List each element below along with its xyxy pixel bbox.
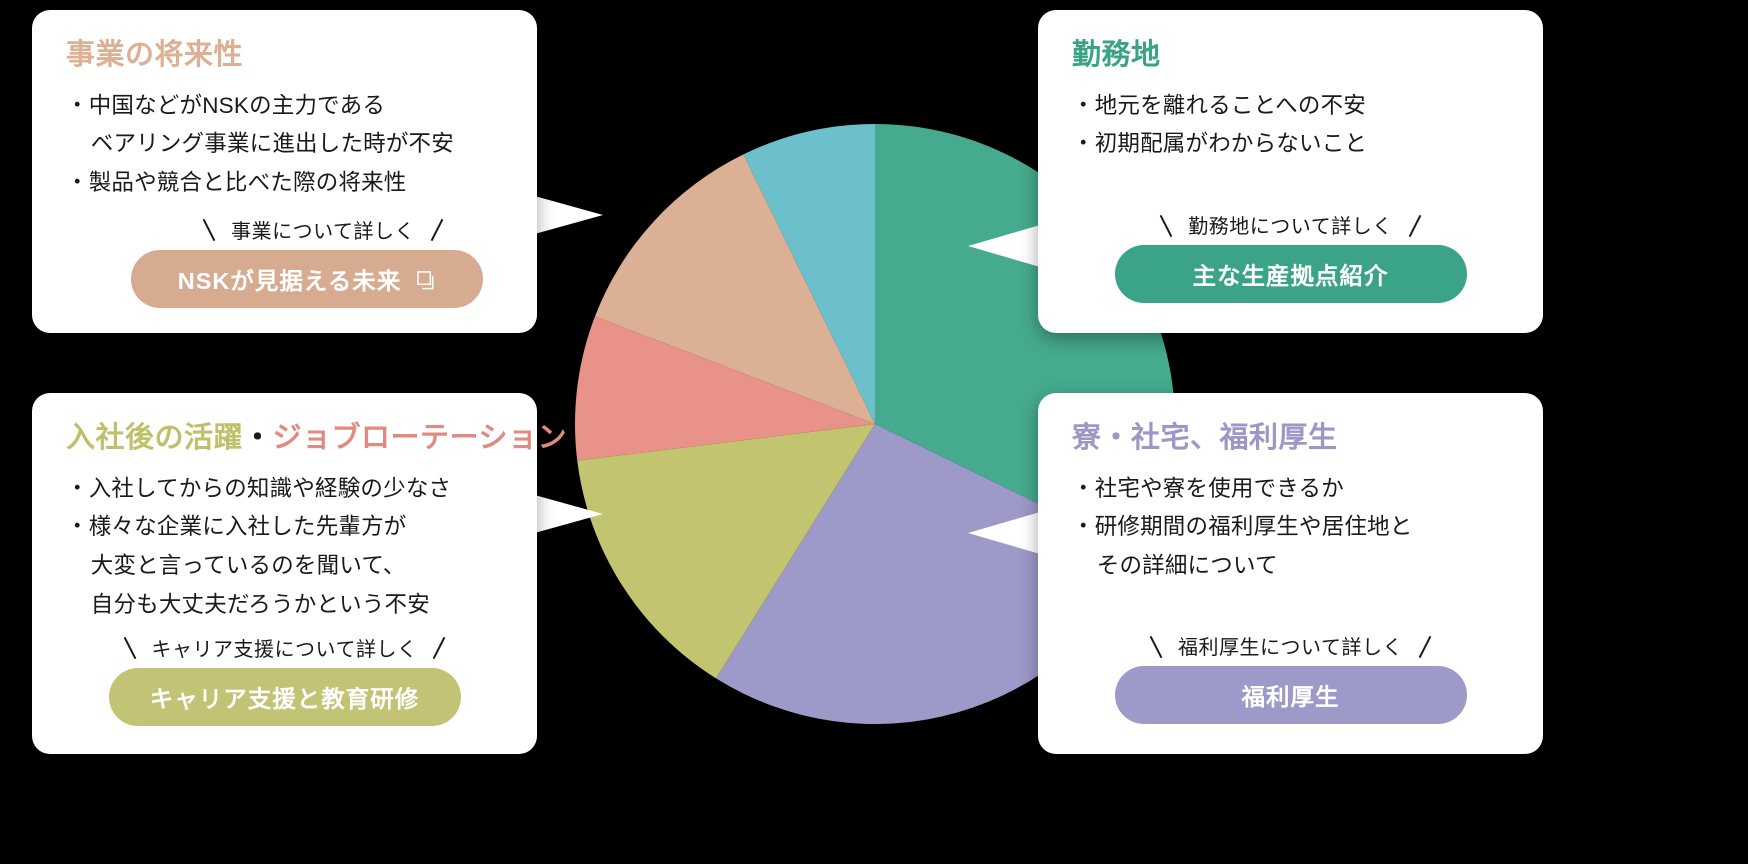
slash-right-icon xyxy=(427,217,447,241)
speech-tail-location xyxy=(968,225,1040,267)
cta-lead-business: 事業について詳しく xyxy=(199,215,447,244)
business-cta-button[interactable]: NSKが見据える未来 xyxy=(131,250,483,308)
speech-tail-business xyxy=(531,195,603,235)
card-business-title: 事業の将来性 xyxy=(66,38,503,73)
card-welfare-title: 寮・社宅、福利厚生 xyxy=(1072,421,1509,456)
list-item: ・中国などがNSKの主力である ベアリング事業に進出した時が不安 xyxy=(66,87,503,164)
slash-left-icon xyxy=(199,217,219,241)
card-location-title: 勤務地 xyxy=(1072,38,1509,73)
card-location-bullets: ・地元を離れることへの不安 ・初期配属がわからないこと xyxy=(1072,87,1509,164)
slash-left-icon xyxy=(1146,634,1166,658)
list-item: ・研修期間の福利厚生や居住地と その詳細について xyxy=(1072,508,1509,585)
slash-left-icon xyxy=(1156,213,1176,237)
slash-right-icon xyxy=(1405,213,1425,237)
career-cta-button[interactable]: キャリア支援と教育研修 xyxy=(109,668,461,726)
card-career-cta: キャリア支援について詳しく キャリア支援と教育研修 xyxy=(66,633,503,726)
list-item: ・入社してからの知識や経験の少なさ xyxy=(66,470,503,509)
card-housing-welfare: 寮・社宅、福利厚生 ・社宅や寮を使用できるか ・研修期間の福利厚生や居住地と そ… xyxy=(1038,393,1543,754)
cta-lead-career: キャリア支援について詳しく xyxy=(120,633,450,662)
cta-lead-location: 勤務地について詳しく xyxy=(1156,210,1424,239)
speech-tail-career xyxy=(531,494,603,534)
list-item: ・製品や競合と比べた際の将来性 xyxy=(66,164,503,203)
card-business-future: 事業の将来性 ・中国などがNSKの主力である ベアリング事業に進出した時が不安 … xyxy=(32,10,537,333)
slash-left-icon xyxy=(120,635,140,659)
card-welfare-cta: 福利厚生について詳しく 福利厚生 xyxy=(1072,631,1509,724)
card-location-cta: 勤務地について詳しく 主な生産拠点紹介 xyxy=(1072,210,1509,303)
list-item: ・社宅や寮を使用できるか xyxy=(1072,470,1509,509)
location-cta-button[interactable]: 主な生産拠点紹介 xyxy=(1115,245,1467,303)
infographic-root: 事業の将来性 ・中国などがNSKの主力である ベアリング事業に進出した時が不安 … xyxy=(0,0,1748,864)
external-link-icon xyxy=(417,269,436,288)
card-work-location: 勤務地 ・地元を離れることへの不安 ・初期配属がわからないこと 勤務地について詳… xyxy=(1038,10,1543,333)
slash-right-icon xyxy=(1415,634,1435,658)
slash-right-icon xyxy=(429,635,449,659)
speech-tail-welfare xyxy=(968,512,1040,554)
card-business-bullets: ・中国などがNSKの主力である ベアリング事業に進出した時が不安 ・製品や競合と… xyxy=(66,87,503,203)
card-welfare-bullets: ・社宅や寮を使用できるか ・研修期間の福利厚生や居住地と その詳細について xyxy=(1072,470,1509,586)
welfare-cta-button[interactable]: 福利厚生 xyxy=(1115,666,1467,724)
card-business-cta: 事業について詳しく NSKが見据える未来 xyxy=(66,215,503,308)
list-item: ・様々な企業に入社した先輩方が 大変と言っているのを聞いて、 自分も大丈夫だろう… xyxy=(66,508,503,624)
cta-lead-welfare: 福利厚生について詳しく xyxy=(1146,631,1435,660)
card-career-rotation: 入社後の活躍・ジョブローテーション ・入社してからの知識や経験の少なさ ・様々な… xyxy=(32,393,537,754)
list-item: ・地元を離れることへの不安 xyxy=(1072,87,1509,126)
card-career-title: 入社後の活躍・ジョブローテーション xyxy=(66,421,503,456)
card-career-bullets: ・入社してからの知識や経験の少なさ ・様々な企業に入社した先輩方が 大変と言って… xyxy=(66,470,503,625)
list-item: ・初期配属がわからないこと xyxy=(1072,125,1509,164)
